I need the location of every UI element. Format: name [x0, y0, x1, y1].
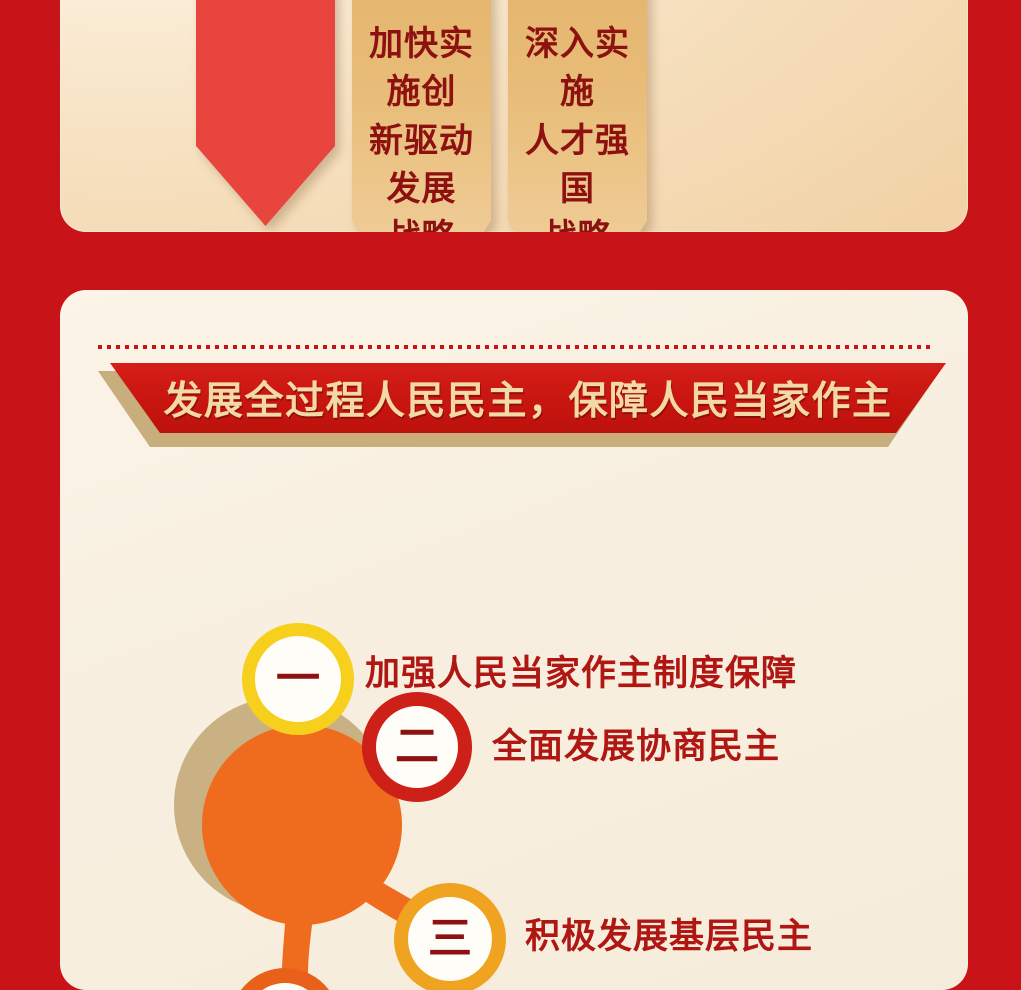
banner-title: 发展全过程人民民主，保障人民当家作主	[163, 370, 892, 426]
top-card: 加快实施创 新驱动发展 战略 深入实施 人才强国 战略	[60, 0, 968, 232]
pennant-line-1: 深入实施	[514, 20, 641, 117]
talent-strategy-pennant[interactable]: 深入实施 人才强国 战略	[508, 0, 647, 232]
node-label-3: 积极发展基层民主	[525, 908, 813, 959]
node-numeral: 三	[428, 917, 472, 961]
node-numeral: 一	[276, 657, 320, 701]
pennant-row: 加快实施创 新驱动发展 战略 深入实施 人才强国 战略	[196, 0, 647, 232]
node-circle-2[interactable]: 二	[362, 692, 472, 802]
node-label-2: 全面发展协商民主	[492, 718, 780, 769]
node-label-1: 加强人民当家作主制度保障	[365, 645, 797, 696]
pennant-body	[196, 0, 335, 226]
bottom-card: 发展全过程人民民主，保障人民当家作主 一 加强人民当家作主制度保障	[60, 290, 968, 990]
pennant-line-2: 新驱动发展	[358, 117, 485, 214]
innovation-strategy-pennant[interactable]: 加快实施创 新驱动发展 战略	[352, 0, 491, 232]
node-numeral: 二	[395, 725, 439, 769]
banner-red-ribbon: 发展全过程人民民主，保障人民当家作主	[110, 363, 946, 433]
pennant-line-3: 战略	[514, 213, 641, 232]
pennant-line-1: 加快实施创	[358, 20, 485, 117]
node-circle-1[interactable]: 一	[242, 623, 354, 735]
node-circle-3[interactable]: 三	[394, 883, 506, 990]
diagram-connectors	[60, 440, 968, 990]
pennant-line-2: 人才强国	[514, 117, 641, 214]
node-diagram: 一 加强人民当家作主制度保障 二 全面发展协商民主 三 积极发展基层民主 四 巩…	[60, 440, 968, 990]
pennant-body: 深入实施 人才强国 战略	[508, 0, 647, 232]
section-banner: 发展全过程人民民主，保障人民当家作主	[98, 363, 940, 447]
pennant-body: 加快实施创 新驱动发展 战略	[352, 0, 491, 232]
red-blank-pennant	[196, 0, 335, 226]
pennant-line-3: 战略	[358, 213, 485, 232]
dotted-divider	[98, 345, 930, 349]
